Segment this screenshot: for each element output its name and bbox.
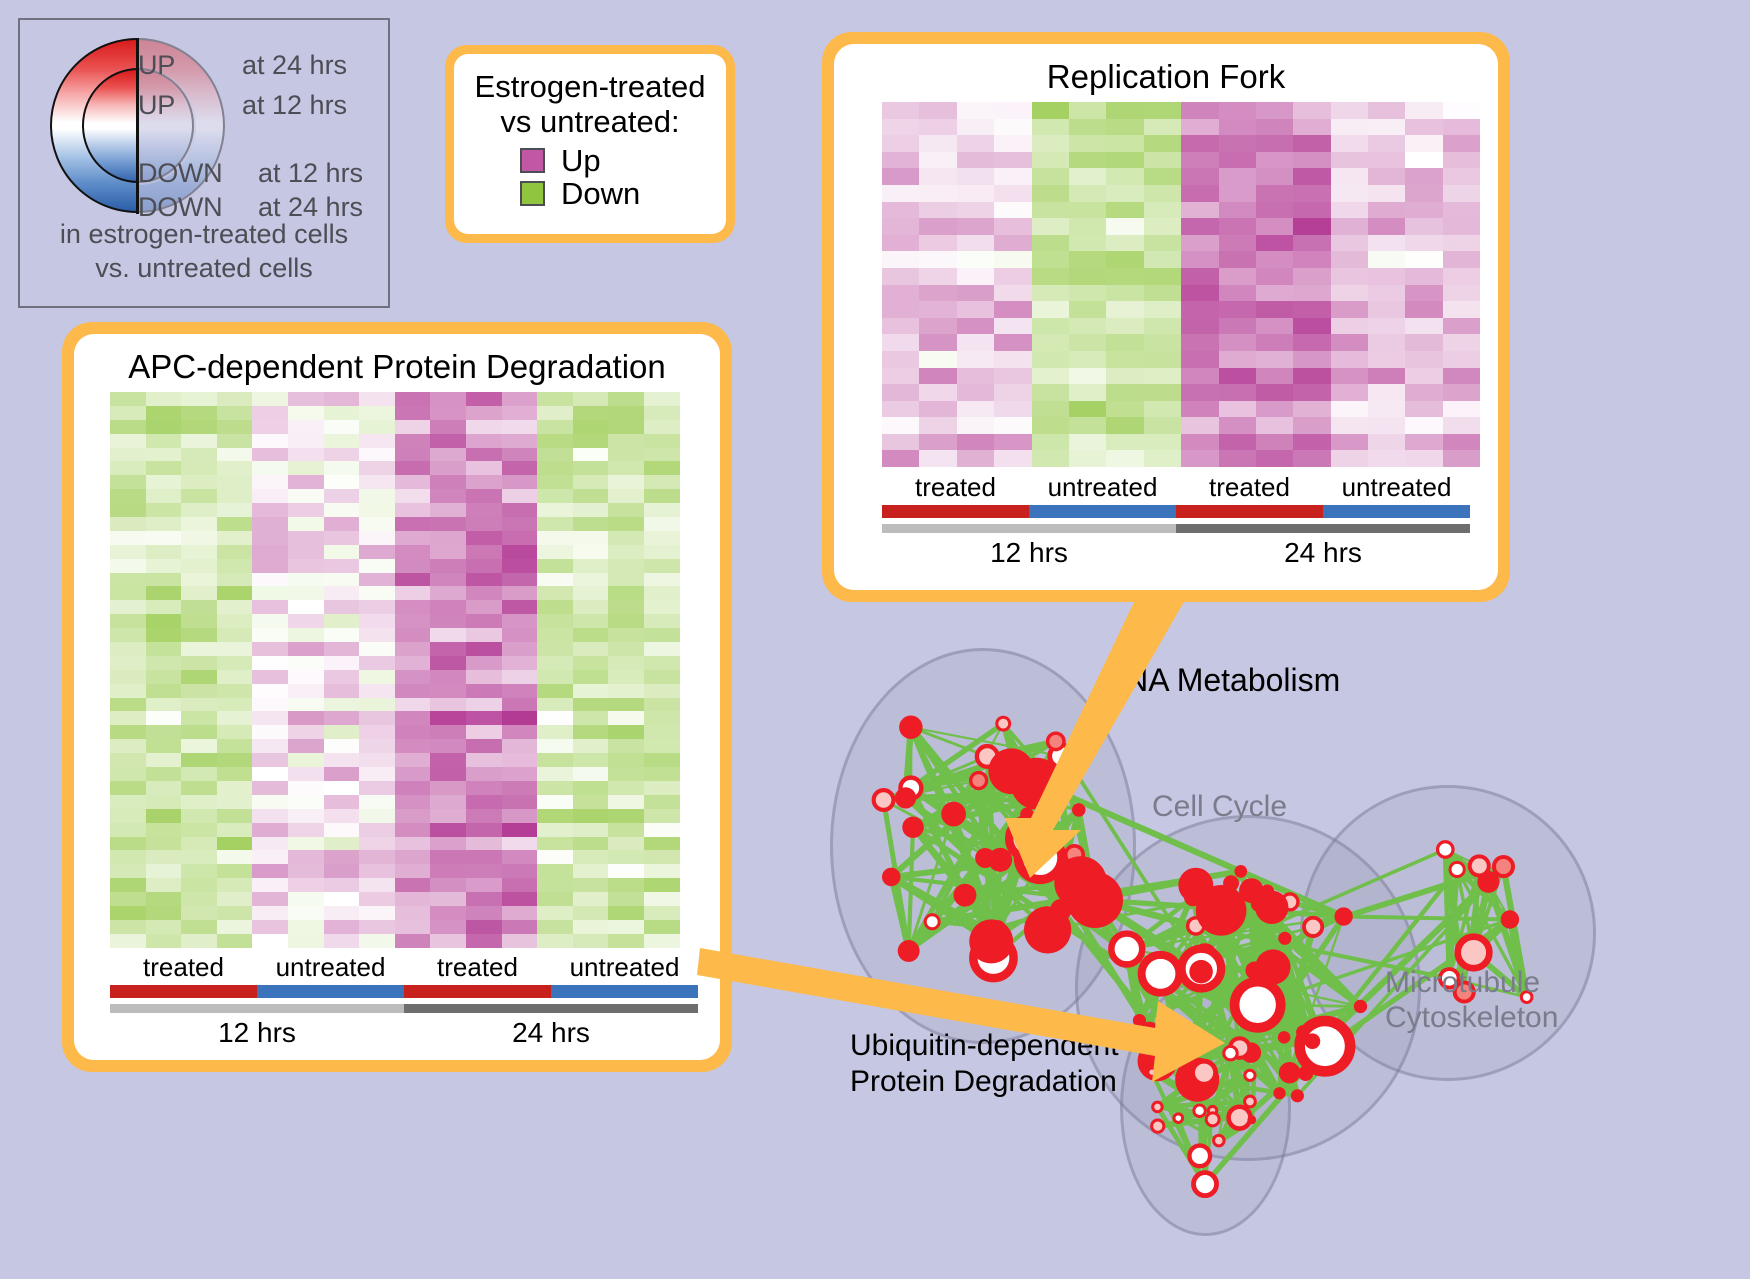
heatmap-cell bbox=[466, 698, 502, 712]
heatmap-cell bbox=[573, 850, 609, 864]
heatmap-cell bbox=[1256, 135, 1293, 152]
heatmap-cell bbox=[1032, 401, 1069, 418]
heatmap-cell bbox=[395, 600, 431, 614]
heatmap-cell bbox=[1443, 434, 1480, 451]
network-node bbox=[1438, 842, 1453, 857]
heatmap-cell bbox=[466, 725, 502, 739]
heatmap-cell bbox=[537, 684, 573, 698]
heatmap-cell bbox=[252, 517, 288, 531]
heatmap-cell bbox=[882, 202, 919, 219]
heatmap-cell bbox=[537, 586, 573, 600]
heatmap-cell bbox=[608, 628, 644, 642]
heatmap-cell bbox=[217, 795, 253, 809]
heatmap-cell bbox=[608, 406, 644, 420]
heatmap-cell bbox=[430, 739, 466, 753]
heatmap-cell bbox=[252, 753, 288, 767]
heatmap-cell bbox=[1405, 218, 1442, 235]
heatmap-cell bbox=[324, 823, 360, 837]
heatmap-cell bbox=[217, 711, 253, 725]
heatmap-cell bbox=[502, 448, 538, 462]
heatmap-cell bbox=[110, 531, 146, 545]
heatmap-cell bbox=[395, 920, 431, 934]
heatmap-cell bbox=[430, 448, 466, 462]
heatmap-cell bbox=[644, 837, 680, 851]
heatmap-cell bbox=[608, 795, 644, 809]
heatmap-cell bbox=[395, 586, 431, 600]
network-diagram: DNA Metabolism Cell Cycle Microtubule Cy… bbox=[790, 600, 1750, 1279]
heatmap-cell bbox=[882, 251, 919, 268]
network-node bbox=[941, 802, 966, 827]
network-node bbox=[1194, 1173, 1217, 1196]
heatmap-cell bbox=[1144, 202, 1181, 219]
network-node bbox=[1148, 1068, 1156, 1076]
heatmap-cell bbox=[608, 670, 644, 684]
heatmap-cell bbox=[573, 725, 609, 739]
heatmap-cell bbox=[1443, 368, 1480, 385]
heatmap-cell bbox=[882, 434, 919, 451]
heatmap-cell bbox=[1443, 334, 1480, 351]
heatmap-cell bbox=[502, 725, 538, 739]
heatmap-cell bbox=[608, 864, 644, 878]
heatmap-cell bbox=[537, 461, 573, 475]
heatmap-cell bbox=[502, 600, 538, 614]
heatmap-cell bbox=[110, 614, 146, 628]
network-node bbox=[1354, 1000, 1367, 1013]
wheel-label-down-12: DOWN bbox=[138, 158, 222, 189]
heatmap-cell bbox=[324, 586, 360, 600]
heatmap-cell bbox=[217, 559, 253, 573]
heatmap-cell bbox=[1144, 368, 1181, 385]
heatmap-cell bbox=[1405, 318, 1442, 335]
network-node bbox=[1024, 906, 1071, 953]
heatmap-cell bbox=[217, 642, 253, 656]
heatmap-cell bbox=[181, 850, 217, 864]
heatmap-cell bbox=[1293, 218, 1330, 235]
heatmap-cell bbox=[994, 285, 1031, 302]
heatmap-cell bbox=[1219, 401, 1256, 418]
heatmap-cell bbox=[1256, 301, 1293, 318]
heatmap-cell bbox=[1405, 235, 1442, 252]
heatmap-cell bbox=[359, 628, 395, 642]
heatmap-cell bbox=[181, 934, 217, 948]
heatmap-cell bbox=[919, 417, 956, 434]
heatmap-cell bbox=[217, 614, 253, 628]
heatmap-cell bbox=[359, 767, 395, 781]
heatmap-cell bbox=[146, 448, 182, 462]
heatmap-cell bbox=[288, 420, 324, 434]
heatmap-cell bbox=[1443, 235, 1480, 252]
heatmap-cell bbox=[1331, 135, 1368, 152]
heatmap-cell bbox=[324, 725, 360, 739]
time-label: 24 hrs bbox=[404, 1017, 698, 1049]
heatmap-cell bbox=[430, 420, 466, 434]
heatmap-cell bbox=[430, 670, 466, 684]
heatmap-cell bbox=[537, 739, 573, 753]
heatmap-cell bbox=[502, 892, 538, 906]
condition-bar-segment bbox=[257, 985, 404, 998]
heatmap-cell bbox=[1069, 119, 1106, 136]
heatmap-cell bbox=[1331, 401, 1368, 418]
heatmap-cell bbox=[1106, 119, 1143, 136]
heatmap-cell bbox=[110, 850, 146, 864]
heatmap-cell bbox=[252, 406, 288, 420]
heatmap-cell bbox=[217, 739, 253, 753]
heatmap-cell bbox=[573, 475, 609, 489]
heatmap-cell bbox=[146, 670, 182, 684]
heatmap-cell bbox=[644, 684, 680, 698]
heatmap-cell bbox=[644, 600, 680, 614]
heatmap-cell bbox=[644, 531, 680, 545]
heatmap-cell bbox=[608, 823, 644, 837]
heatmap-cell bbox=[608, 503, 644, 517]
heatmap-cell bbox=[181, 586, 217, 600]
heatmap-cell bbox=[608, 489, 644, 503]
heatmap-cell bbox=[324, 392, 360, 406]
heatmap-cell bbox=[537, 725, 573, 739]
heatmap-cell bbox=[1219, 185, 1256, 202]
heatmap-cell bbox=[573, 434, 609, 448]
heatmap-replication-fork bbox=[882, 102, 1480, 467]
heatmap-cell bbox=[1405, 384, 1442, 401]
heatmap-cell bbox=[181, 684, 217, 698]
heatmap-cell bbox=[146, 781, 182, 795]
heatmap-cell bbox=[1144, 434, 1181, 451]
heatmap-cell bbox=[608, 753, 644, 767]
heatmap-cell bbox=[252, 725, 288, 739]
heatmap-cell bbox=[537, 906, 573, 920]
heatmap-cell bbox=[573, 656, 609, 670]
heatmap-cell bbox=[110, 573, 146, 587]
heatmap-cell bbox=[466, 461, 502, 475]
heatmap-cell bbox=[957, 301, 994, 318]
heatmap-cell bbox=[1443, 285, 1480, 302]
heatmap-cell bbox=[537, 753, 573, 767]
heatmap-cell bbox=[466, 850, 502, 864]
heatmap-cell bbox=[1181, 102, 1218, 119]
heatmap-cell bbox=[430, 531, 466, 545]
network-node bbox=[1298, 1066, 1313, 1081]
legend-item-down: Down bbox=[520, 178, 716, 209]
heatmap-cell bbox=[608, 559, 644, 573]
heatmap-cell bbox=[181, 517, 217, 531]
heatmap-cell bbox=[537, 559, 573, 573]
heatmap-cell bbox=[110, 753, 146, 767]
heatmap-cell bbox=[644, 642, 680, 656]
heatmap-cell bbox=[573, 767, 609, 781]
heatmap-cell bbox=[110, 448, 146, 462]
heatmap-cell bbox=[608, 573, 644, 587]
heatmap-cell bbox=[537, 517, 573, 531]
heatmap-cell bbox=[395, 489, 431, 503]
network-node bbox=[1494, 857, 1513, 876]
heatmap-cell bbox=[1405, 185, 1442, 202]
heatmap-cell bbox=[882, 285, 919, 302]
heatmap-cell bbox=[1443, 119, 1480, 136]
heatmap-cell bbox=[252, 600, 288, 614]
heatmap-cell bbox=[1443, 318, 1480, 335]
heatmap-cell bbox=[324, 878, 360, 892]
heatmap-cell bbox=[324, 600, 360, 614]
heatmap-cell bbox=[466, 448, 502, 462]
heatmap-cell bbox=[181, 503, 217, 517]
network-node bbox=[988, 848, 1012, 872]
heatmap-cell bbox=[1405, 268, 1442, 285]
heatmap-cell bbox=[110, 600, 146, 614]
heatmap-cell bbox=[146, 920, 182, 934]
heatmap-cell bbox=[217, 684, 253, 698]
heatmap-cell bbox=[466, 434, 502, 448]
heatmap-cell bbox=[324, 698, 360, 712]
heatmap-cell bbox=[288, 920, 324, 934]
heatmap-cell bbox=[359, 392, 395, 406]
legend-item-up: Up bbox=[520, 145, 716, 176]
heatmap-cell bbox=[359, 586, 395, 600]
heatmap-cell bbox=[1219, 351, 1256, 368]
heatmap-cell bbox=[395, 406, 431, 420]
heatmap-cell bbox=[430, 725, 466, 739]
heatmap-cell bbox=[919, 401, 956, 418]
heatmap-cell bbox=[1293, 434, 1330, 451]
heatmap-cell bbox=[395, 420, 431, 434]
heatmap-cell bbox=[288, 809, 324, 823]
heatmap-cell bbox=[359, 781, 395, 795]
heatmap-cell bbox=[466, 837, 502, 851]
heatmap-cell bbox=[395, 850, 431, 864]
heatmap-cell bbox=[146, 406, 182, 420]
heatmap-cell bbox=[608, 420, 644, 434]
heatmap-cell bbox=[181, 531, 217, 545]
heatmap-cell bbox=[919, 301, 956, 318]
heatmap-cell bbox=[537, 698, 573, 712]
heatmap-cell bbox=[395, 545, 431, 559]
heatmap-cell bbox=[217, 934, 253, 948]
heatmap-cell bbox=[252, 461, 288, 475]
updown-legend-title: Estrogen-treated vs untreated: bbox=[464, 70, 716, 139]
heatmap-cell bbox=[110, 809, 146, 823]
heatmap-cell bbox=[466, 767, 502, 781]
heatmap-cell bbox=[110, 781, 146, 795]
heatmap-cell bbox=[146, 656, 182, 670]
heatmap-cell bbox=[288, 823, 324, 837]
heatmap-cell bbox=[288, 864, 324, 878]
heatmap-cell bbox=[1405, 334, 1442, 351]
heatmap-cell bbox=[324, 628, 360, 642]
heatmap-cell bbox=[359, 475, 395, 489]
heatmap-cell bbox=[919, 351, 956, 368]
heatmap-cell bbox=[217, 545, 253, 559]
heatmap-cell bbox=[1256, 202, 1293, 219]
heatmap-cell bbox=[288, 656, 324, 670]
heatmap-cell bbox=[1219, 384, 1256, 401]
heatmap-cell bbox=[1331, 251, 1368, 268]
heatmap-cell bbox=[957, 102, 994, 119]
heatmap-cell bbox=[882, 102, 919, 119]
heatmap-cell bbox=[994, 185, 1031, 202]
network-node bbox=[990, 920, 1006, 936]
heatmap-cell bbox=[395, 573, 431, 587]
heatmap-cell bbox=[608, 531, 644, 545]
heatmap-cell bbox=[608, 545, 644, 559]
heatmap-cell bbox=[919, 135, 956, 152]
heatmap-cell bbox=[608, 517, 644, 531]
network-node bbox=[1279, 1062, 1300, 1083]
heatmap-cell bbox=[608, 448, 644, 462]
heatmap-cell bbox=[217, 461, 253, 475]
heatmap-cell bbox=[110, 767, 146, 781]
heatmap-cell bbox=[994, 119, 1031, 136]
heatmap-cell bbox=[359, 559, 395, 573]
heatmap-cell bbox=[502, 906, 538, 920]
heatmap-cell bbox=[1106, 202, 1143, 219]
heatmap-cell bbox=[217, 628, 253, 642]
heatmap-cell bbox=[1405, 152, 1442, 169]
network-node bbox=[1278, 932, 1291, 945]
heatmap-cell bbox=[1219, 152, 1256, 169]
heatmap-cell bbox=[1368, 417, 1405, 434]
heatmap-cell bbox=[395, 628, 431, 642]
heatmap-cell bbox=[608, 878, 644, 892]
heatmap-cell bbox=[1106, 351, 1143, 368]
heatmap-cell bbox=[1181, 318, 1218, 335]
heatmap-cell bbox=[288, 489, 324, 503]
heatmap-cell bbox=[288, 461, 324, 475]
heatmap-cell bbox=[359, 545, 395, 559]
heatmap-cell bbox=[537, 489, 573, 503]
updown-legend-title-line1: Estrogen-treated bbox=[464, 70, 716, 105]
heatmap-cell bbox=[644, 906, 680, 920]
heatmap-cell bbox=[288, 503, 324, 517]
heatmap-cell bbox=[252, 781, 288, 795]
heatmap-cell bbox=[466, 475, 502, 489]
heatmap-cell bbox=[146, 545, 182, 559]
heatmap-cell bbox=[1069, 368, 1106, 385]
heatmap-cell bbox=[919, 318, 956, 335]
heatmap-cell bbox=[146, 489, 182, 503]
heatmap-cell bbox=[288, 392, 324, 406]
label-ubiquitin-line2: Protein Degradation bbox=[850, 1064, 1119, 1100]
heatmap-cell bbox=[502, 767, 538, 781]
heatmap-cell bbox=[395, 392, 431, 406]
heatmap-cell bbox=[146, 531, 182, 545]
heatmap-cell bbox=[1032, 384, 1069, 401]
label-ubiquitin: Ubiquitin-dependent Protein Degradation bbox=[850, 1028, 1119, 1100]
heatmap-cell bbox=[466, 517, 502, 531]
heatmap-cell bbox=[994, 318, 1031, 335]
heatmap-cell bbox=[1032, 368, 1069, 385]
heatmap-cell bbox=[1032, 251, 1069, 268]
label-ubiquitin-line1: Ubiquitin-dependent bbox=[850, 1028, 1119, 1064]
panel-title-replication-fork: Replication Fork bbox=[834, 44, 1498, 96]
heatmap-cell bbox=[146, 420, 182, 434]
heatmap-cell bbox=[1405, 351, 1442, 368]
heatmap-cell bbox=[1443, 202, 1480, 219]
heatmap-cell bbox=[430, 698, 466, 712]
updown-legend-card: Estrogen-treated vs untreated: Up Down bbox=[445, 45, 735, 243]
heatmap-cell bbox=[1181, 135, 1218, 152]
heatmap-cell bbox=[573, 809, 609, 823]
heatmap-cell bbox=[252, 434, 288, 448]
heatmap-cell bbox=[957, 334, 994, 351]
network-node bbox=[1291, 1089, 1304, 1102]
heatmap-cell bbox=[466, 739, 502, 753]
heatmap-cell bbox=[957, 318, 994, 335]
heatmap-cell bbox=[1331, 119, 1368, 136]
heatmap-cell bbox=[573, 448, 609, 462]
heatmap-cell bbox=[252, 420, 288, 434]
heatmap-cell bbox=[1032, 152, 1069, 169]
heatmap-cell bbox=[1368, 185, 1405, 202]
heatmap-cell bbox=[608, 781, 644, 795]
heatmap-cell bbox=[288, 600, 324, 614]
heatmap-cell bbox=[1219, 119, 1256, 136]
heatmap-cell bbox=[324, 739, 360, 753]
heatmap-cell bbox=[466, 864, 502, 878]
heatmap-cell bbox=[181, 725, 217, 739]
heatmap-cell bbox=[430, 559, 466, 573]
heatmap-cell bbox=[644, 753, 680, 767]
heatmap-cell bbox=[181, 698, 217, 712]
network-node bbox=[1304, 918, 1322, 936]
heatmap-cell bbox=[146, 934, 182, 948]
heatmap-cell bbox=[324, 795, 360, 809]
heatmap-cell bbox=[1106, 218, 1143, 235]
heatmap-cell bbox=[146, 837, 182, 851]
network-node bbox=[899, 716, 922, 739]
heatmap-cell bbox=[430, 934, 466, 948]
heatmap-cell bbox=[1106, 251, 1143, 268]
heatmap-cell bbox=[573, 878, 609, 892]
heatmap-cell bbox=[359, 698, 395, 712]
heatmap-cell bbox=[1331, 450, 1368, 467]
heatmap-cell bbox=[573, 489, 609, 503]
heatmap-cell bbox=[994, 417, 1031, 434]
heatmap-cell bbox=[644, 864, 680, 878]
heatmap-cell bbox=[1032, 102, 1069, 119]
heatmap-cell bbox=[1293, 102, 1330, 119]
heatmap-cell bbox=[181, 864, 217, 878]
heatmap-cell bbox=[1144, 268, 1181, 285]
heatmap-cell bbox=[957, 202, 994, 219]
heatmap-cell bbox=[502, 795, 538, 809]
heatmap-cell bbox=[359, 461, 395, 475]
heatmap-cell bbox=[919, 102, 956, 119]
heatmap-cell bbox=[1331, 368, 1368, 385]
heatmap-cell bbox=[994, 152, 1031, 169]
heatmap-cell bbox=[466, 628, 502, 642]
heatmap-cell bbox=[537, 878, 573, 892]
heatmap-cell bbox=[994, 334, 1031, 351]
heatmap-cell bbox=[252, 795, 288, 809]
heatmap-cell bbox=[1293, 135, 1330, 152]
heatmap-cell bbox=[1106, 152, 1143, 169]
heatmap-cell bbox=[181, 878, 217, 892]
label-microtubule-line2: Cytoskeleton bbox=[1385, 1000, 1558, 1035]
heatmap-cell bbox=[1106, 384, 1143, 401]
network-node bbox=[1194, 1105, 1205, 1116]
heatmap-cell bbox=[324, 503, 360, 517]
heatmap-cell bbox=[430, 892, 466, 906]
heatmap-cell bbox=[957, 119, 994, 136]
heatmap-cell bbox=[430, 684, 466, 698]
heatmap-cell bbox=[324, 767, 360, 781]
heatmap-cell bbox=[1069, 251, 1106, 268]
axis-apc: treated untreated treated untreated 12 h… bbox=[110, 952, 698, 1049]
heatmap-cell bbox=[1032, 218, 1069, 235]
heatmap-cell bbox=[1368, 202, 1405, 219]
heatmap-cell bbox=[146, 642, 182, 656]
heatmap-cell bbox=[288, 406, 324, 420]
network-node bbox=[1189, 1146, 1210, 1167]
